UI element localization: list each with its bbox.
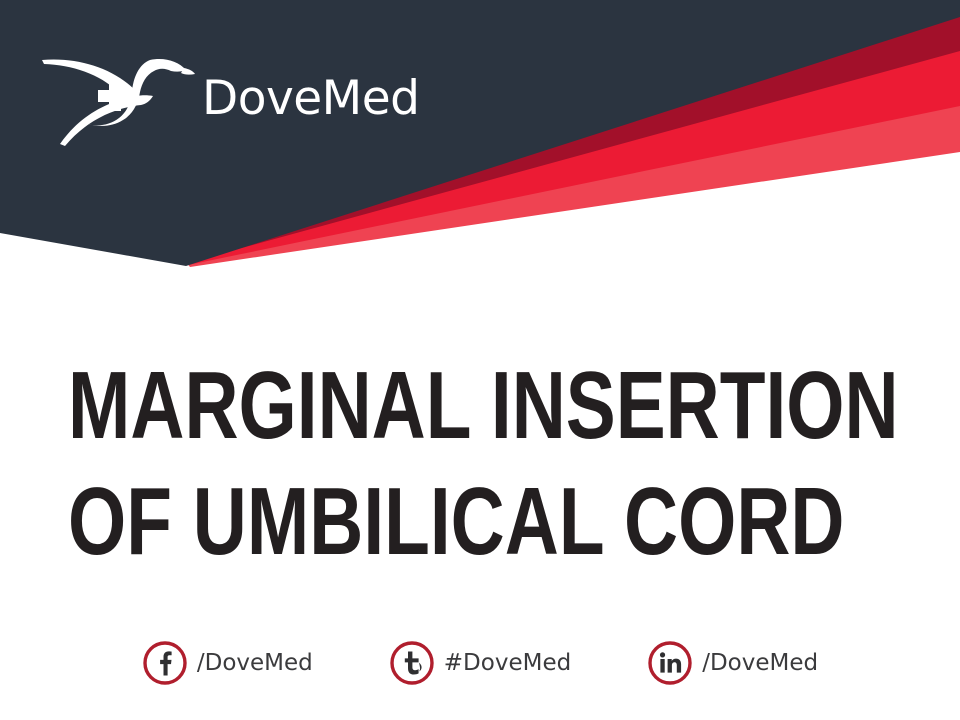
dovemed-logo[interactable]: DoveMed <box>38 46 438 150</box>
social-link-twitter[interactable]: #DoveMed <box>389 640 571 686</box>
title-line-1: Marginal Insertion <box>68 348 715 464</box>
social-label-facebook: /DoveMed <box>197 652 313 675</box>
social-links: /DoveMed #DoveMed /DoveMed <box>0 638 960 688</box>
twitter-icon[interactable] <box>389 640 435 686</box>
social-label-twitter: #DoveMed <box>444 652 571 675</box>
facebook-icon[interactable] <box>142 640 188 686</box>
social-label-linkedin: /DoveMed <box>702 652 818 675</box>
page-title: Marginal Insertion of Umbilical Cord <box>68 348 898 580</box>
slide-canvas: DoveMed Marginal Insertion of Umbilical … <box>0 0 960 720</box>
dove-icon <box>38 48 196 148</box>
logo-wordmark: DoveMed <box>202 75 419 122</box>
linkedin-icon[interactable] <box>647 640 693 686</box>
social-link-facebook[interactable]: /DoveMed <box>142 640 313 686</box>
title-line-2: of Umbilical Cord <box>68 464 715 580</box>
social-link-linkedin[interactable]: /DoveMed <box>647 640 818 686</box>
